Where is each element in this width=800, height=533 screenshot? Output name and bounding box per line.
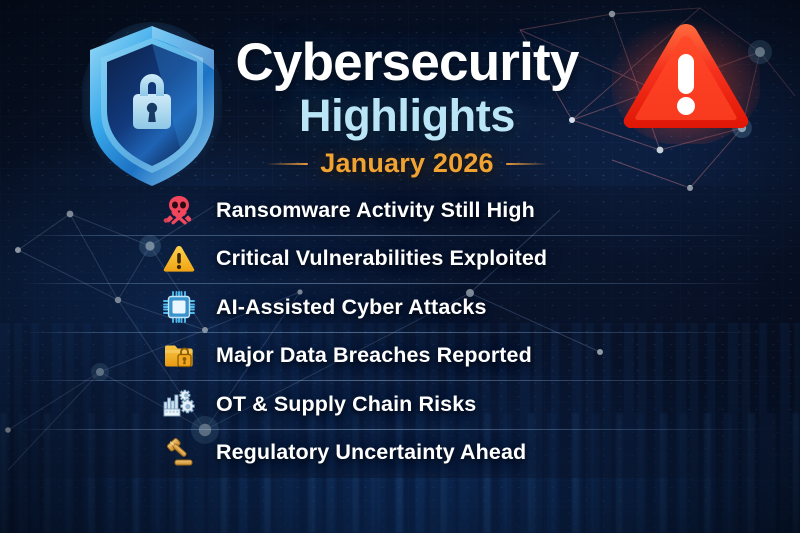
warning-triangle-icon [612,14,760,144]
title-block: Cybersecurity Highlights January 2026 [222,36,592,179]
list-item-label: Critical Vulnerabilities Exploited [216,246,547,271]
list-item: Major Data Breaches Reported [0,332,800,381]
skull-crossbones-icon [162,193,196,227]
factory-gears-icon [162,387,196,421]
list-item: OT & Supply Chain Risks [0,380,800,429]
list-item: Critical Vulnerabilities Exploited [0,235,800,284]
list-item: Regulatory Uncertainty Ahead [0,429,800,478]
locked-folder-icon [162,339,196,373]
list-item: Ransomware Activity Still High [0,186,800,235]
list-item-label: Regulatory Uncertainty Ahead [216,440,526,465]
microchip-icon [162,290,196,324]
warning-triangle-icon [162,242,196,276]
date-dash-left [266,163,308,165]
gavel-icon [162,436,196,470]
list-item-label: OT & Supply Chain Risks [216,392,476,417]
cybersecurity-highlights-poster: Cybersecurity Highlights January 2026 [0,0,800,533]
page-title: Cybersecurity [222,36,592,90]
date-dash-right [506,163,548,165]
shield-lock-icon [82,20,222,192]
list-item: AI-Assisted Cyber Attacks [0,283,800,332]
list-item-label: Major Data Breaches Reported [216,343,532,368]
list-item-label: AI-Assisted Cyber Attacks [216,295,487,320]
list-item-label: Ransomware Activity Still High [216,198,535,223]
date-row: January 2026 [222,148,592,179]
date-label: January 2026 [320,148,494,179]
highlights-list: Ransomware Activity Still High Critical … [0,186,800,478]
page-subtitle: Highlights [222,91,592,141]
